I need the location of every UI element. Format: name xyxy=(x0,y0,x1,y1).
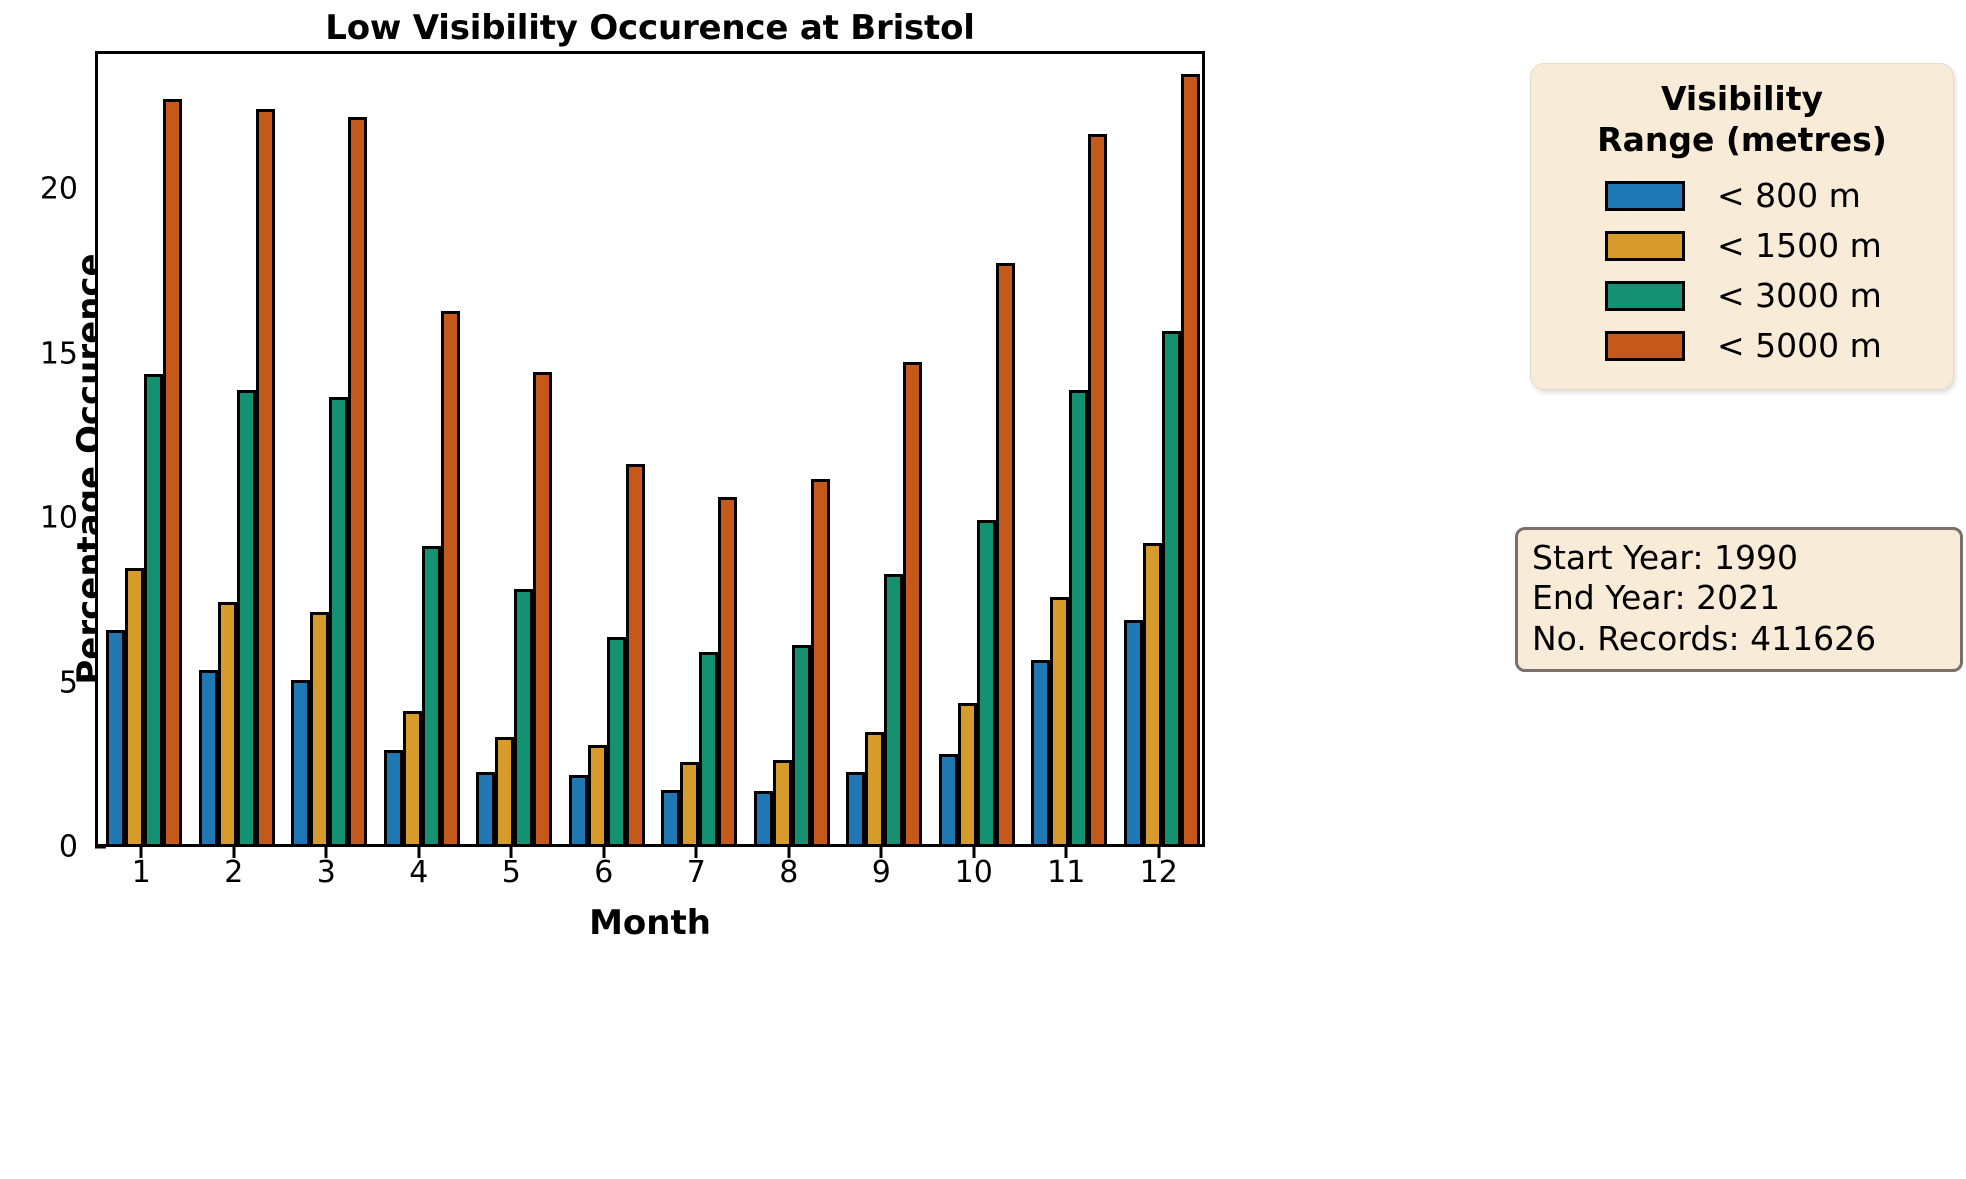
bar xyxy=(163,99,182,844)
x-axis-tick-label: 5 xyxy=(502,855,521,890)
bar xyxy=(1050,597,1069,844)
bar xyxy=(996,263,1015,844)
bar xyxy=(495,737,514,844)
legend-items: < 800 m< 1500 m< 3000 m< 5000 m xyxy=(1547,171,1937,371)
bar xyxy=(903,362,922,844)
bar xyxy=(218,602,237,844)
legend-title-line-2: Range (metres) xyxy=(1547,119,1937,160)
legend-item-label: < 1500 m xyxy=(1717,226,1882,265)
legend-item[interactable]: < 3000 m xyxy=(1547,271,1937,321)
bar xyxy=(329,397,348,844)
bar xyxy=(441,311,460,844)
x-axis-tick-label: 11 xyxy=(1047,855,1085,890)
bar xyxy=(476,772,495,844)
legend-item[interactable]: < 1500 m xyxy=(1547,221,1937,271)
bar xyxy=(811,479,830,844)
bar xyxy=(865,732,884,844)
x-axis-tick-label: 4 xyxy=(409,855,428,890)
legend-title-line-1: Visibility xyxy=(1547,78,1937,119)
x-axis-tick-label: 8 xyxy=(779,855,798,890)
legend-swatch-icon xyxy=(1605,231,1685,261)
bar xyxy=(310,612,329,844)
legend-swatch-icon xyxy=(1605,181,1685,211)
plot-area xyxy=(98,54,1202,844)
x-axis-tick-label: 3 xyxy=(317,855,336,890)
x-axis-tick-label: 9 xyxy=(872,855,891,890)
bar xyxy=(977,520,996,844)
chart-page: Low Visibility Occurence at Bristol 0510… xyxy=(0,0,1966,1179)
bar xyxy=(661,790,680,844)
bar xyxy=(384,750,403,844)
legend-title: Visibility Range (metres) xyxy=(1547,78,1937,161)
bar xyxy=(199,670,218,844)
bar xyxy=(939,754,958,844)
bar xyxy=(792,645,811,844)
bar xyxy=(1162,331,1181,844)
bar xyxy=(569,775,588,844)
plot-frame xyxy=(95,51,1205,847)
x-axis-tick-label: 10 xyxy=(955,855,993,890)
bar xyxy=(884,574,903,844)
legend-item[interactable]: < 5000 m xyxy=(1547,321,1937,371)
bar xyxy=(626,464,645,844)
bar xyxy=(1069,390,1088,844)
legend-swatch-icon xyxy=(1605,281,1685,311)
bar xyxy=(680,762,699,844)
info-records: No. Records: 411626 xyxy=(1532,619,1946,659)
x-axis-title: Month xyxy=(95,903,1205,943)
bar xyxy=(514,589,533,844)
bar xyxy=(348,117,367,844)
x-axis-tick-label: 2 xyxy=(224,855,243,890)
x-axis-tick-label: 6 xyxy=(594,855,613,890)
x-axis-tick-label: 12 xyxy=(1140,855,1178,890)
info-start-year: Start Year: 1990 xyxy=(1532,538,1946,578)
legend-item-label: < 800 m xyxy=(1717,176,1861,215)
bar xyxy=(607,637,626,844)
bar xyxy=(422,546,441,844)
x-axis-tick-labels: 123456789101112 xyxy=(95,855,1205,901)
bar xyxy=(699,652,718,844)
bar xyxy=(773,760,792,844)
bar xyxy=(846,772,865,844)
legend-item-label: < 3000 m xyxy=(1717,276,1882,315)
bar xyxy=(1181,74,1200,844)
bar xyxy=(754,791,773,844)
bar xyxy=(958,703,977,844)
bar xyxy=(1143,543,1162,844)
legend: Visibility Range (metres) < 800 m< 1500 … xyxy=(1530,63,1954,390)
info-end-year: End Year: 2021 xyxy=(1532,578,1946,618)
legend-swatch-icon xyxy=(1605,331,1685,361)
bar xyxy=(718,497,737,844)
bar xyxy=(1124,620,1143,844)
bar xyxy=(1031,660,1050,844)
bar xyxy=(106,630,125,844)
info-box: Start Year: 1990 End Year: 2021 No. Reco… xyxy=(1515,527,1963,672)
x-axis-tick-label: 1 xyxy=(132,855,151,890)
legend-item-label: < 5000 m xyxy=(1717,326,1882,365)
bar xyxy=(256,109,275,844)
bar xyxy=(237,390,256,844)
x-axis-tick-label: 7 xyxy=(687,855,706,890)
page-title: Low Visibility Occurence at Bristol xyxy=(95,8,1205,48)
bar xyxy=(403,711,422,844)
legend-item[interactable]: < 800 m xyxy=(1547,171,1937,221)
bar xyxy=(125,568,144,844)
bar xyxy=(144,374,163,844)
bar xyxy=(291,680,310,844)
bar xyxy=(588,745,607,844)
bar xyxy=(1088,134,1107,844)
bar xyxy=(533,372,552,844)
